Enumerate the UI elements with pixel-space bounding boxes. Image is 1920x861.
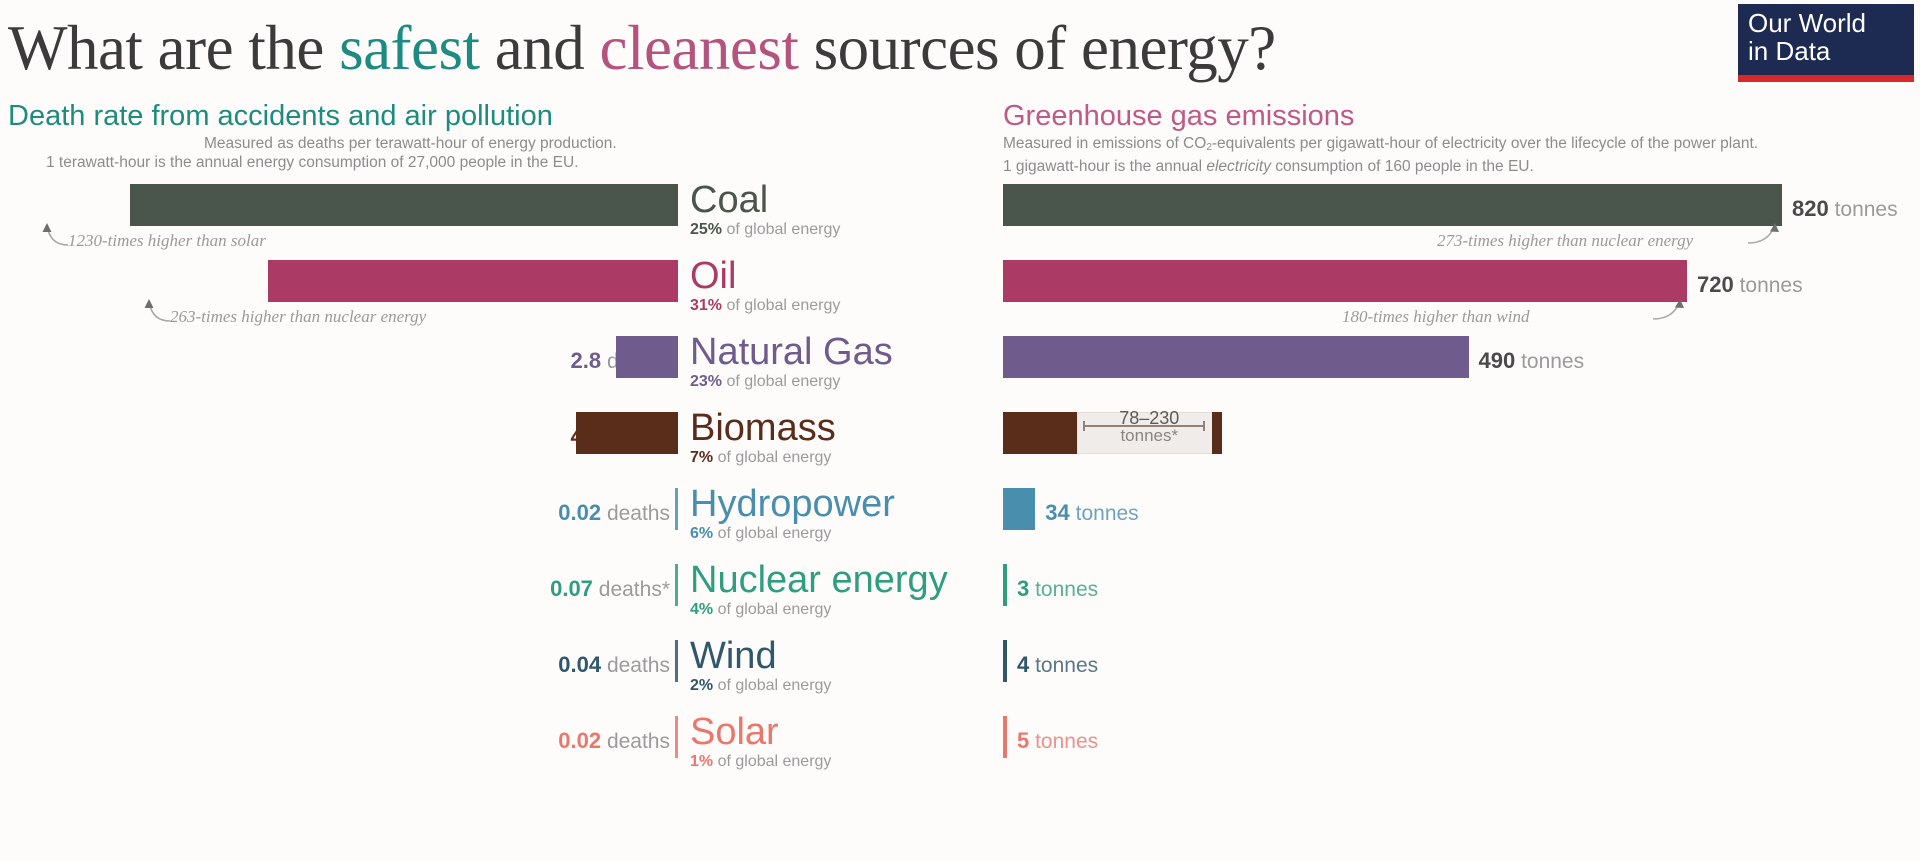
energy-source-share: 1% of global energy bbox=[690, 752, 1000, 771]
energy-source-name: Oil bbox=[690, 256, 1000, 296]
ghg-value-wind: 4 tonnes bbox=[1017, 652, 1098, 678]
page-title: What are the safest and cleanest sources… bbox=[8, 0, 1920, 96]
energy-source-label-wind: Wind2% of global energy bbox=[690, 636, 1000, 695]
our-world-in-data-logo[interactable]: Our World in Data bbox=[1738, 4, 1914, 82]
energy-source-share: 2% of global energy bbox=[690, 676, 1000, 695]
left-column-subtitle-2: 1 terawatt-hour is the annual energy con… bbox=[8, 153, 708, 172]
death-rate-bar-nuclear-energy bbox=[675, 564, 678, 606]
right-annotation-arrow-icon bbox=[1744, 221, 1790, 247]
right-annotation: 273-times higher than nuclear energy bbox=[1437, 231, 1693, 251]
subtitle2-emphasis: electricity bbox=[1206, 158, 1271, 175]
energy-source-label-solar: Solar1% of global energy bbox=[690, 712, 1000, 771]
death-rate-bar-oil bbox=[268, 260, 678, 302]
energy-source-name: Solar bbox=[690, 712, 1000, 752]
subtitle2-prefix: 1 gigawatt-hour is the annual bbox=[1003, 158, 1206, 175]
energy-source-name: Natural Gas bbox=[690, 332, 1000, 372]
energy-source-label-oil: Oil31% of global energy bbox=[690, 256, 1000, 315]
left-annotation: 1230-times higher than solar bbox=[68, 231, 266, 251]
subtitle-co2-prefix: Measured in emissions of CO bbox=[1003, 135, 1206, 152]
chart-row: 0.02 deathsHydropower6% of global energy… bbox=[0, 480, 1920, 556]
energy-source-share: 23% of global energy bbox=[690, 372, 1000, 391]
death-rate-value-wind: 0.04 deaths bbox=[558, 652, 670, 678]
title-highlight-cleanest: cleanest bbox=[599, 13, 798, 83]
energy-source-label-biomass: Biomass7% of global energy bbox=[690, 408, 1000, 467]
left-column-heading: Death rate from accidents and air pollut… bbox=[8, 98, 708, 172]
chart-row: 0.07 deaths*Nuclear energy4% of global e… bbox=[0, 556, 1920, 632]
death-rate-value-solar: 0.02 deaths bbox=[558, 728, 670, 754]
title-segment-3: sources of energy? bbox=[798, 13, 1275, 83]
energy-source-share: 4% of global energy bbox=[690, 600, 1000, 619]
right-column-subtitle-1: Measured in emissions of CO2-equivalents… bbox=[1003, 134, 1903, 157]
left-column-title: Death rate from accidents and air pollut… bbox=[8, 98, 708, 134]
right-column-subtitle-2: 1 gigawatt-hour is the annual electricit… bbox=[1003, 157, 1903, 176]
ghg-range-unit: tonnes* bbox=[1077, 428, 1221, 444]
ghg-bar-biomass-low bbox=[1003, 412, 1077, 454]
energy-source-name: Hydropower bbox=[690, 484, 1000, 524]
ghg-range-label-biomass: 78–230tonnes* bbox=[1077, 410, 1221, 444]
energy-source-share: 6% of global energy bbox=[690, 524, 1000, 543]
death-rate-bar-wind bbox=[675, 640, 678, 682]
left-annotation-arrow-icon bbox=[38, 221, 84, 247]
energy-source-name: Coal bbox=[690, 180, 1000, 220]
ghg-bar-coal bbox=[1003, 184, 1782, 226]
chart-row: 2.8 deathsNatural Gas23% of global energ… bbox=[0, 328, 1920, 404]
ghg-bar-oil bbox=[1003, 260, 1687, 302]
left-annotation: 263-times higher than nuclear energy bbox=[170, 307, 426, 327]
ghg-value-coal: 820 tonnes bbox=[1792, 196, 1898, 222]
death-rate-bar-coal bbox=[130, 184, 678, 226]
energy-source-name: Nuclear energy bbox=[690, 560, 1000, 600]
ghg-bar-nuclear-energy bbox=[1003, 564, 1007, 606]
title-segment-2: and bbox=[480, 13, 600, 83]
death-rate-bar-natural-gas bbox=[616, 336, 678, 378]
ghg-value-hydropower: 34 tonnes bbox=[1045, 500, 1138, 526]
ghg-value-nuclear-energy: 3 tonnes bbox=[1017, 576, 1098, 602]
ghg-bar-biomass-high-cap bbox=[1212, 412, 1222, 454]
title-segment-1: What are the bbox=[8, 13, 339, 83]
energy-source-share: 25% of global energy bbox=[690, 220, 1000, 239]
energy-source-share: 7% of global energy bbox=[690, 448, 1000, 467]
energy-source-label-natural-gas: Natural Gas23% of global energy bbox=[690, 332, 1000, 391]
right-column-title: Greenhouse gas emissions bbox=[1003, 98, 1903, 134]
title-highlight-safest: safest bbox=[339, 13, 479, 83]
energy-source-name: Biomass bbox=[690, 408, 1000, 448]
ghg-value-natural-gas: 490 tonnes bbox=[1479, 348, 1585, 374]
logo-line-2: in Data bbox=[1748, 37, 1906, 65]
death-rate-value-hydropower: 0.02 deaths bbox=[558, 500, 670, 526]
death-rate-bar-biomass bbox=[576, 412, 678, 454]
death-rate-value-nuclear-energy: 0.07 deaths* bbox=[550, 576, 670, 602]
ghg-value-oil: 720 tonnes bbox=[1697, 272, 1803, 298]
energy-source-label-nuclear-energy: Nuclear energy4% of global energy bbox=[690, 560, 1000, 619]
right-column-heading: Greenhouse gas emissions Measured in emi… bbox=[1003, 98, 1903, 176]
death-rate-bar-solar bbox=[675, 716, 678, 758]
ghg-bar-natural-gas bbox=[1003, 336, 1469, 378]
subtitle-co2-suffix: -equivalents per gigawatt-hour of electr… bbox=[1212, 135, 1758, 152]
chart-row: 0.04 deathsWind2% of global energy4 tonn… bbox=[0, 632, 1920, 708]
energy-source-share: 31% of global energy bbox=[690, 296, 1000, 315]
chart-body: 24.6 deaths1230-times higher than solarC… bbox=[0, 176, 1920, 856]
right-annotation-arrow-icon bbox=[1649, 297, 1695, 323]
ghg-bar-wind bbox=[1003, 640, 1007, 682]
ghg-value-solar: 5 tonnes bbox=[1017, 728, 1098, 754]
left-annotation-arrow-icon bbox=[140, 297, 186, 323]
chart-row: 4.6 deathsBiomass7% of global energy78–2… bbox=[0, 404, 1920, 480]
ghg-range-value: 78–230 bbox=[1077, 410, 1221, 426]
chart-row: 18.4 deaths263-times higher than nuclear… bbox=[0, 252, 1920, 328]
subtitle2-suffix: consumption of 160 people in the EU. bbox=[1271, 158, 1534, 175]
right-annotation: 180-times higher than wind bbox=[1342, 307, 1529, 327]
logo-line-1: Our World bbox=[1748, 9, 1906, 37]
chart-row: 24.6 deaths1230-times higher than solarC… bbox=[0, 176, 1920, 252]
ghg-bar-solar bbox=[1003, 716, 1007, 758]
ghg-bar-hydropower bbox=[1003, 488, 1035, 530]
page-header: What are the safest and cleanest sources… bbox=[0, 0, 1920, 98]
column-headings: Death rate from accidents and air pollut… bbox=[0, 98, 1920, 176]
energy-source-name: Wind bbox=[690, 636, 1000, 676]
chart-row: 0.02 deathsSolar1% of global energy5 ton… bbox=[0, 708, 1920, 784]
death-rate-bar-hydropower bbox=[675, 488, 678, 530]
energy-source-label-hydropower: Hydropower6% of global energy bbox=[690, 484, 1000, 543]
left-column-subtitle-1: Measured as deaths per terawatt-hour of … bbox=[8, 134, 708, 153]
energy-source-label-coal: Coal25% of global energy bbox=[690, 180, 1000, 239]
